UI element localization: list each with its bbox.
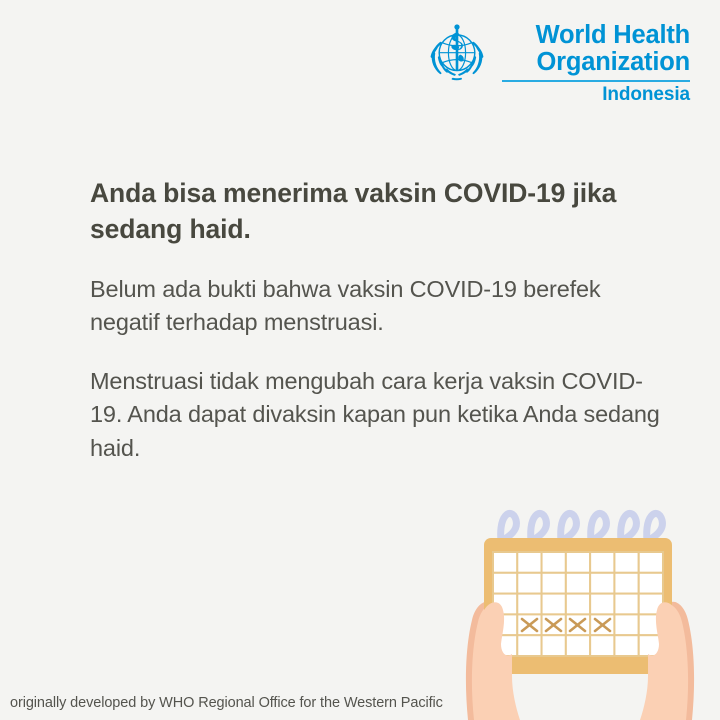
calendar-grid xyxy=(493,552,663,656)
message-content: Anda bisa menerima vaksin COVID-19 jika … xyxy=(90,176,660,465)
poster-canvas: World Health Organization Indonesia Anda… xyxy=(0,0,720,720)
who-emblem-icon xyxy=(424,23,490,89)
paragraph-2: Menstruasi tidak mengubah cara kerja vak… xyxy=(90,365,660,464)
logo-country-label: Indonesia xyxy=(602,85,690,106)
headline: Anda bisa menerima vaksin COVID-19 jika … xyxy=(90,176,660,247)
footer-credit: originally developed by WHO Regional Off… xyxy=(10,695,443,711)
logo-line-organization: Organization xyxy=(537,49,690,76)
who-logo-text: World Health Organization Indonesia xyxy=(502,22,690,106)
illustration-hands-holding-calendar xyxy=(440,480,720,720)
paragraph-1: Belum ada bukti bahwa vaksin COVID-19 be… xyxy=(90,273,660,339)
calendar-illustration-svg xyxy=(440,480,720,720)
logo-divider xyxy=(502,80,690,82)
logo-line-world-health: World Health xyxy=(536,22,690,49)
who-logo: World Health Organization Indonesia xyxy=(424,22,690,106)
